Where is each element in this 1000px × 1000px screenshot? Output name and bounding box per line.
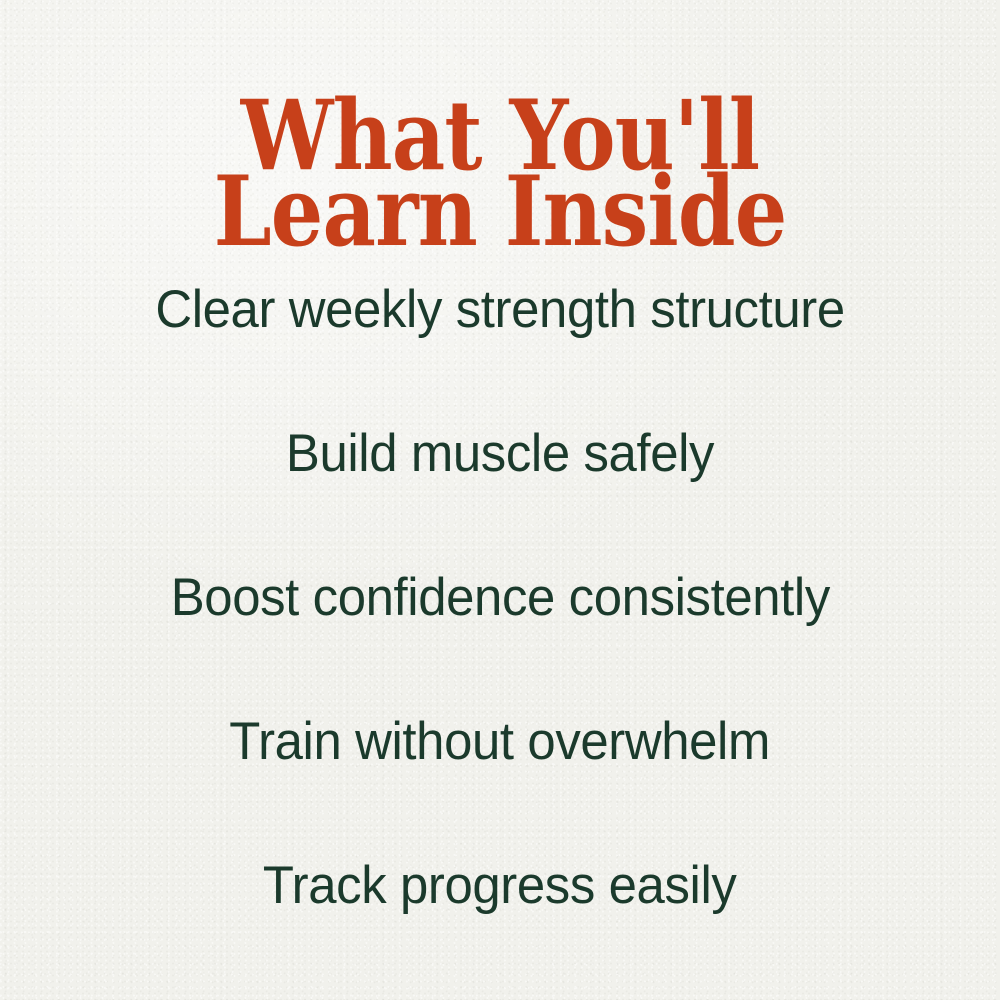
list-item: Train without overwhelm: [0, 670, 1000, 814]
list-item: Clear weekly strength structure: [0, 238, 1000, 382]
promo-poster: What You'll Learn Inside Clear weekly st…: [0, 0, 1000, 1000]
benefit-label-4: Train without overwhelm: [230, 713, 771, 771]
benefit-list: Clear weekly strength structure Build mu…: [0, 238, 1000, 958]
list-item: Build muscle safely: [0, 382, 1000, 526]
benefit-label-2: Build muscle safely: [286, 425, 714, 483]
benefit-label-1: Clear weekly strength structure: [155, 281, 844, 339]
list-item: Boost confidence consistently: [0, 526, 1000, 670]
page-title: What You'll Learn Inside: [0, 98, 1000, 250]
benefit-label-3: Boost confidence consistently: [170, 569, 829, 627]
list-item: Track progress easily: [0, 814, 1000, 958]
benefit-label-5: Track progress easily: [263, 857, 737, 915]
